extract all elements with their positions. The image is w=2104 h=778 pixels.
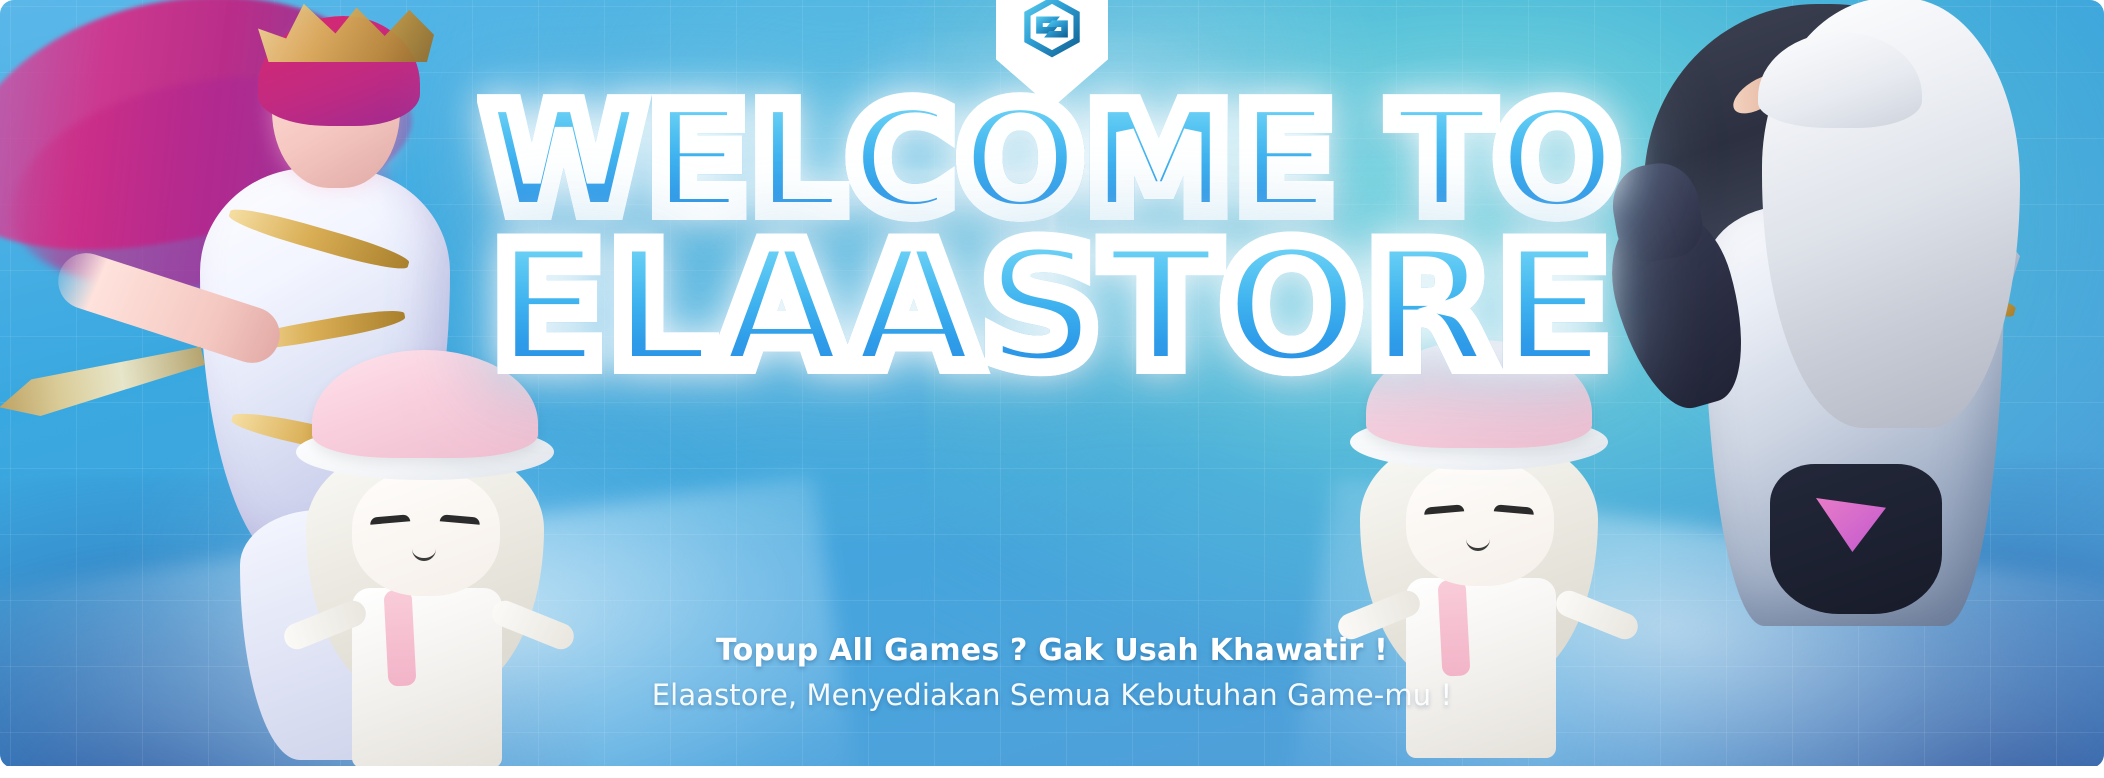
site-logo[interactable] [996, 0, 1108, 108]
hero-banner: WELCOME TO ELAASTORE Topup All Games ? G… [0, 0, 2104, 768]
tagline-primary: Topup All Games ? Gak Usah Khawatir ! [0, 633, 2104, 668]
elaastore-hexagon-logo-icon [1019, 0, 1085, 60]
tagline-secondary: Elaastore, Menyediakan Semua Kebutuhan G… [0, 678, 2104, 712]
page-title: WELCOME TO ELAASTORE [0, 92, 2104, 385]
page-background-strip [0, 766, 2104, 778]
chibi-face [1406, 460, 1554, 586]
title-line-1-text: WELCOME TO [482, 92, 1622, 228]
tagline-block: Topup All Games ? Gak Usah Khawatir ! El… [0, 633, 2104, 712]
title-line-2-text: ELAASTORE [491, 230, 1613, 385]
title-line-2: ELAASTORE [0, 230, 2104, 385]
hero-title-block: WELCOME TO ELAASTORE [0, 92, 2104, 385]
title-line-1: WELCOME TO [0, 92, 2104, 228]
page-root: WELCOME TO ELAASTORE Topup All Games ? G… [0, 0, 2104, 778]
chibi-face [352, 470, 500, 596]
